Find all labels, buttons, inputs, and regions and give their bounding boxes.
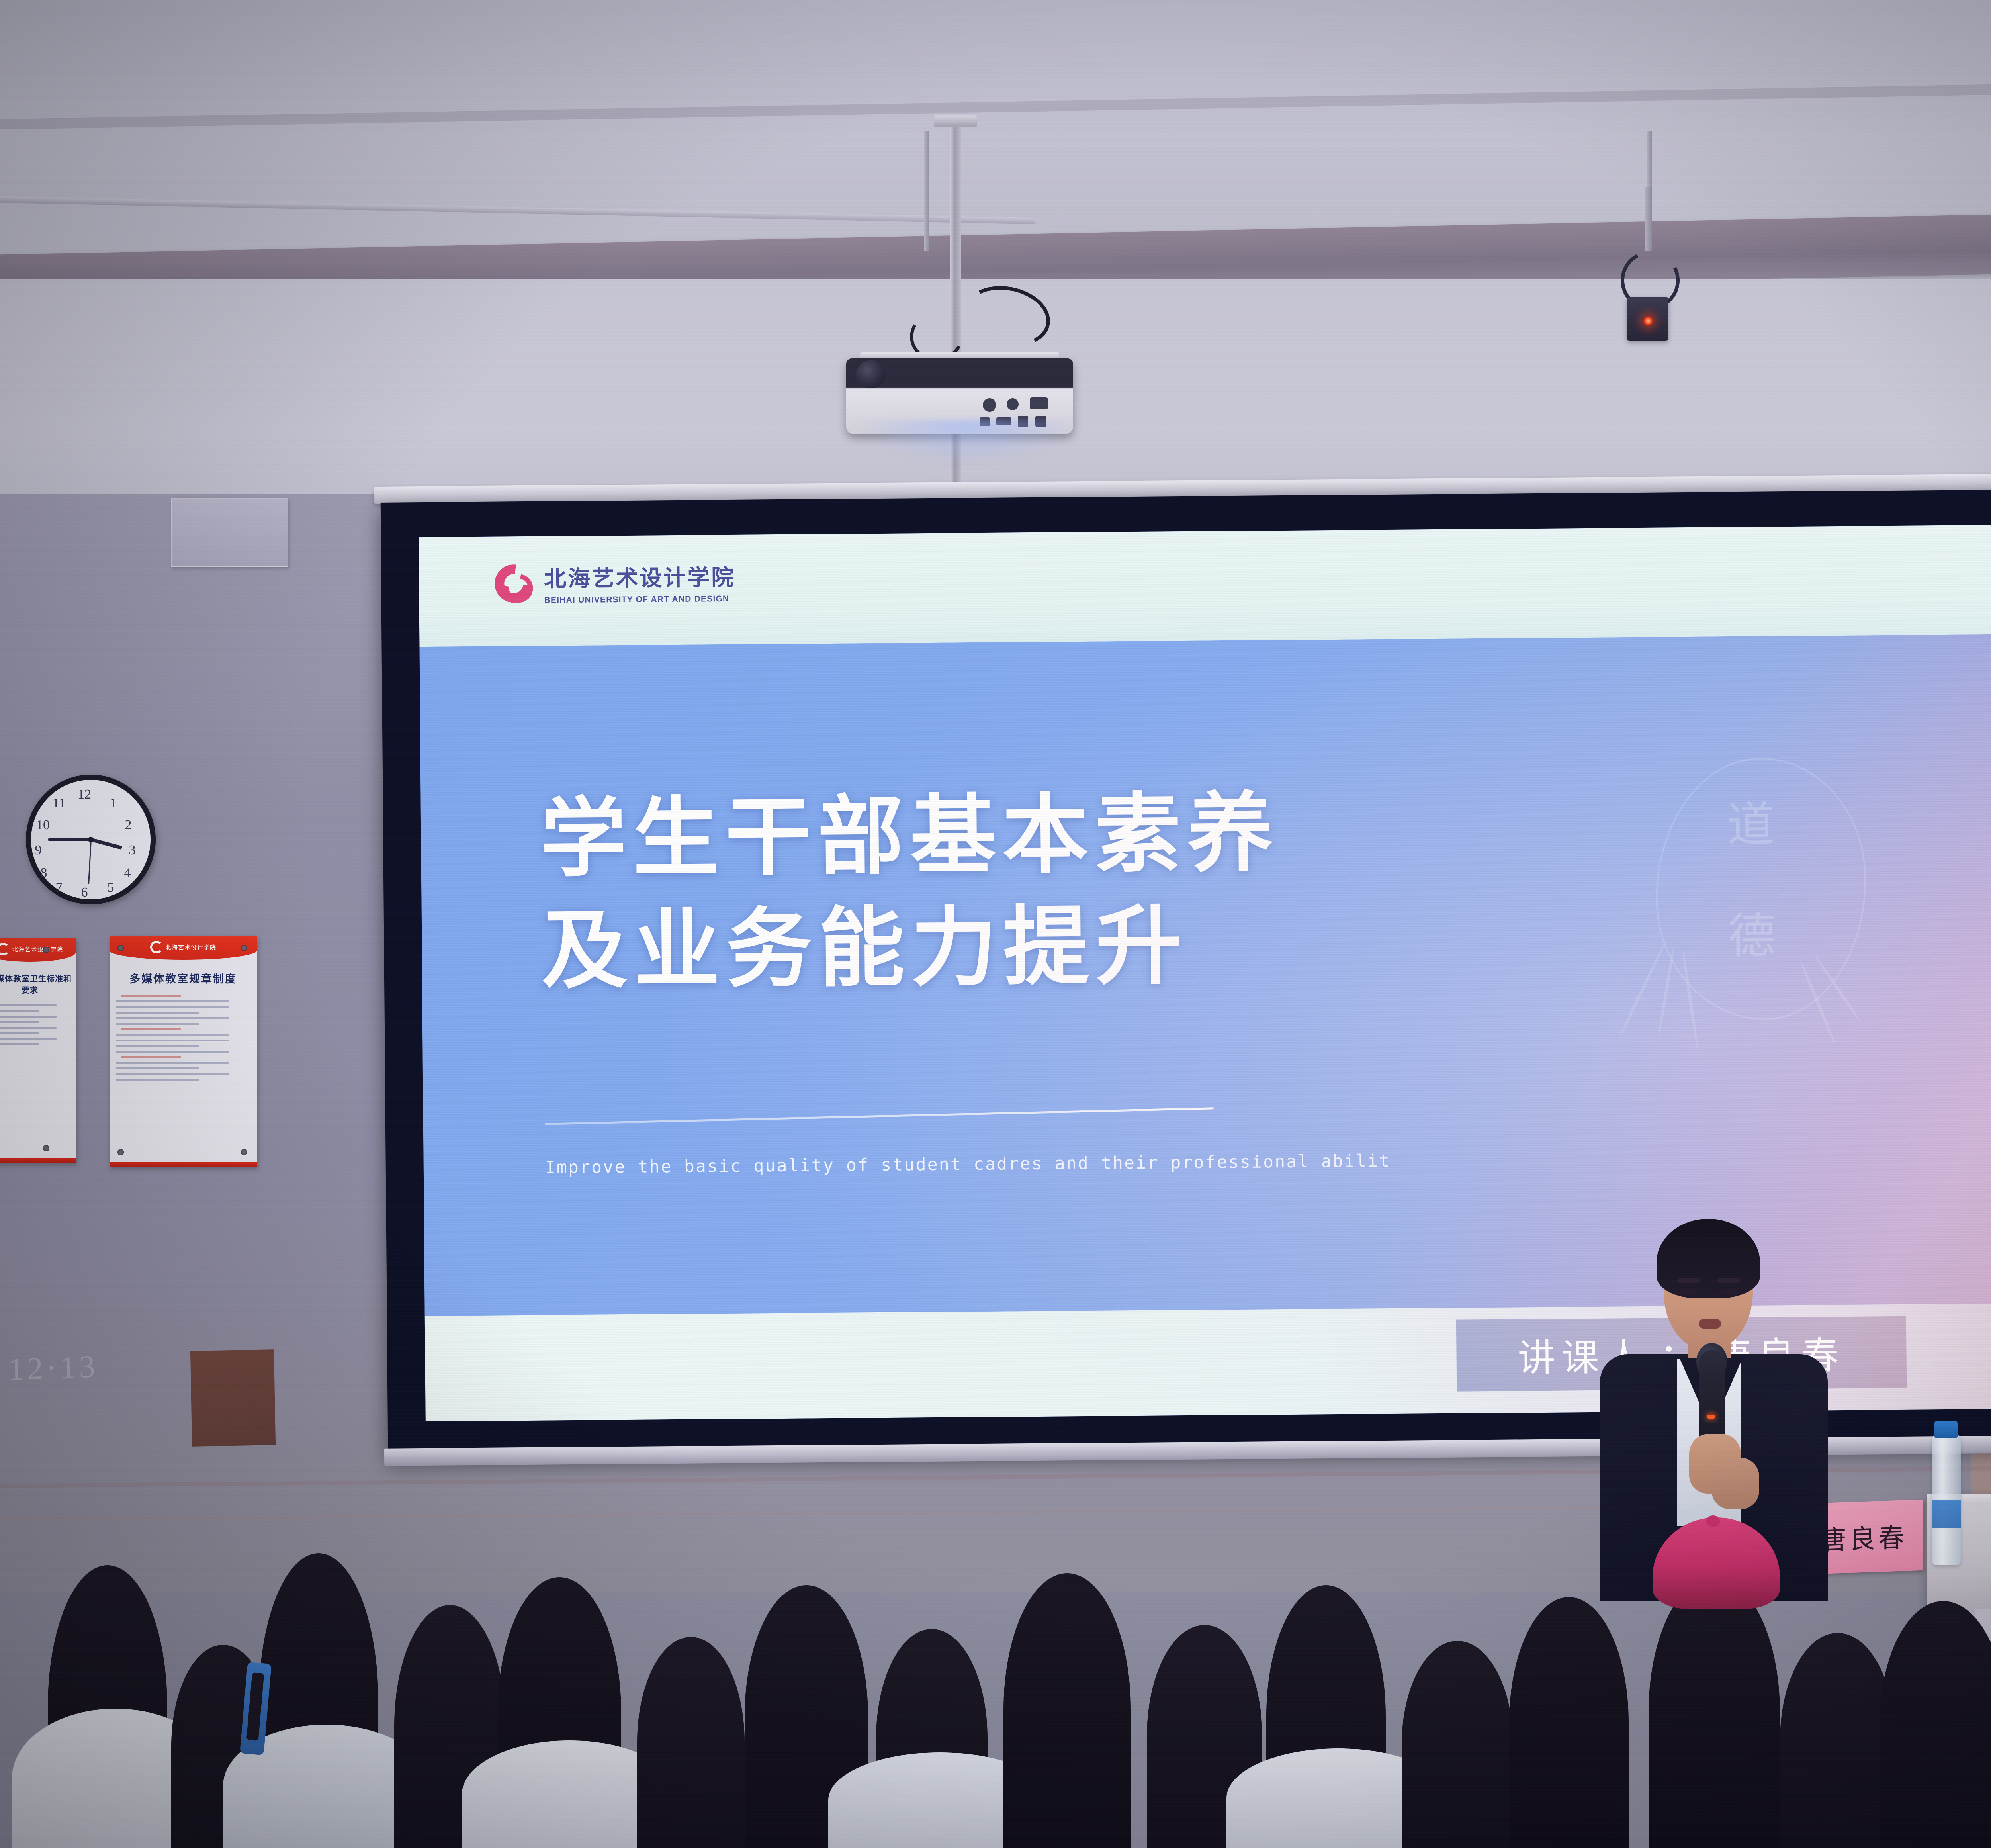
status-led-icon — [1644, 317, 1653, 325]
audience-head-with-cap — [1649, 1577, 1780, 1848]
clock-number: 10 — [35, 818, 51, 833]
water-bottle-label — [1932, 1500, 1961, 1528]
clock-center-pin — [88, 837, 94, 842]
projector-port — [983, 398, 996, 412]
poster-text-line — [116, 1045, 199, 1047]
poster-body — [110, 986, 257, 1090]
speaker-eye — [1680, 1289, 1697, 1294]
poster-classroom-regulations: 北海艺术设计学院 多媒体教室规章制度 — [110, 936, 257, 1167]
ceiling-hanger-rod-left — [924, 131, 929, 251]
university-swirl-icon — [495, 564, 533, 603]
clock-number: 2 — [120, 818, 136, 833]
poster-header: 北海艺术设计学院 — [110, 936, 257, 960]
poster-text-line — [0, 1004, 57, 1006]
cap-button-icon — [1706, 1515, 1720, 1527]
slide-title-line-1: 学生干部基本素养 — [540, 777, 1280, 895]
clock-number: 8 — [36, 865, 52, 881]
poster-section-heading — [121, 995, 181, 997]
poster-text-line — [0, 1038, 57, 1040]
speaker-hair — [1657, 1219, 1760, 1298]
speaker-mouth — [1699, 1319, 1721, 1329]
poster-logo: 北海艺术设计学院 — [150, 941, 216, 953]
brand-name-en: BEIHAI UNIVERSITY OF ART AND DESIGN — [544, 594, 735, 605]
poster-text-line — [116, 1039, 229, 1041]
audience-head — [1509, 1597, 1629, 1848]
poster-header: 北海艺术设计学院 — [0, 938, 76, 962]
chalk-note: 12·13 — [7, 1349, 99, 1388]
poster-text-line — [116, 1079, 199, 1081]
speaker-eye — [1720, 1289, 1738, 1294]
clock-number: 5 — [103, 880, 119, 895]
audience-head — [1003, 1573, 1131, 1848]
ceiling-sensor-pole — [1645, 187, 1652, 251]
poster-text-line — [116, 1073, 229, 1075]
brand-text: 北海艺术设计学院 BEIHAI UNIVERSITY OF ART AND DE… — [544, 560, 735, 605]
clock-number: 6 — [76, 885, 92, 900]
poster-text-line — [0, 1021, 39, 1023]
slide-title: 学生干部基本素养 及业务能力提升 — [540, 777, 1281, 1007]
swirl-icon — [0, 943, 10, 955]
poster-hygiene-standards: 北海艺术设计学院 多媒体教室卫生标准和要求 — [0, 938, 76, 1163]
audience-head — [1880, 1601, 1991, 1848]
brand-name-cn: 北海艺术设计学院 — [544, 560, 735, 593]
poster-screw — [117, 945, 124, 951]
clock-number: 4 — [119, 865, 135, 881]
poster-screw — [43, 947, 49, 953]
projector-port — [1030, 397, 1048, 409]
clock-minute-hand — [48, 838, 91, 841]
poster-header-text: 北海艺术设计学院 — [12, 945, 63, 953]
poster-screw — [117, 1149, 124, 1155]
speaker-eyebrow — [1677, 1278, 1700, 1283]
poster-text-line — [116, 1067, 199, 1069]
poster-body — [0, 995, 76, 1055]
poster-text-line — [116, 1051, 229, 1053]
poster-text-line — [0, 1043, 39, 1045]
projector-mount-ceiling-plate — [934, 115, 977, 127]
wall-clock: 12 1 2 3 4 5 6 7 8 9 10 11 — [26, 775, 156, 904]
audience-head — [637, 1637, 745, 1848]
clock-number: 7 — [51, 880, 67, 895]
clock-second-hand — [88, 840, 92, 884]
poster-text-line — [116, 1023, 199, 1025]
poster-section-heading — [121, 1056, 181, 1058]
electrical-junction-box — [171, 498, 288, 567]
water-bottle-cap — [1934, 1421, 1958, 1438]
clock-number: 9 — [30, 843, 46, 858]
poster-screw — [43, 1145, 49, 1151]
poster-text-line — [0, 1010, 39, 1012]
poster-screw — [241, 945, 247, 951]
speaker-second-hand — [1711, 1458, 1759, 1509]
clock-number: 12 — [76, 787, 92, 802]
clock-hour-hand — [90, 838, 122, 850]
projector-light-glow — [856, 420, 1079, 464]
poster-header-text: 北海艺术设计学院 — [165, 943, 216, 951]
poster-text-line — [116, 1012, 199, 1014]
audience-head — [1780, 1633, 1895, 1848]
clock-number: 1 — [105, 796, 121, 811]
poster-section-heading — [121, 1028, 181, 1030]
poster-text-line — [116, 1034, 229, 1036]
poster-text-line — [0, 1016, 57, 1018]
poster-title: 多媒体教室规章制度 — [110, 970, 257, 986]
projector-port — [1007, 398, 1019, 410]
clock-number: 11 — [51, 796, 67, 811]
poster-text-line — [116, 1062, 229, 1064]
lecture-hall-photo: 12·13 12 1 2 3 4 5 6 7 8 9 10 11 北海艺术设计学… — [0, 0, 1991, 1848]
poster-text-line — [116, 1000, 229, 1002]
clock-number: 3 — [124, 843, 140, 858]
poster-text-line — [0, 1032, 39, 1034]
poster-text-line — [116, 1017, 229, 1019]
poster-text-line — [116, 1006, 229, 1008]
audience-head — [1402, 1641, 1513, 1848]
swirl-icon — [150, 941, 163, 953]
wall-patch — [190, 1349, 276, 1447]
microphone-power-led-icon — [1707, 1415, 1715, 1419]
poster-text-line — [0, 1027, 57, 1029]
poster-logo: 北海艺术设计学院 — [0, 943, 63, 955]
projector-lens-icon — [856, 360, 886, 388]
slide-brand-logo: 北海艺术设计学院 BEIHAI UNIVERSITY OF ART AND DE… — [495, 560, 735, 606]
poster-title: 多媒体教室卫生标准和要求 — [0, 972, 76, 995]
poster-footer — [110, 1162, 257, 1167]
speaker-eyebrow — [1717, 1278, 1740, 1283]
handheld-microphone-body — [1699, 1350, 1725, 1442]
slide-title-line-2: 及业务能力提升 — [541, 889, 1281, 1007]
poster-footer — [0, 1158, 76, 1163]
poster-screw — [241, 1149, 247, 1155]
